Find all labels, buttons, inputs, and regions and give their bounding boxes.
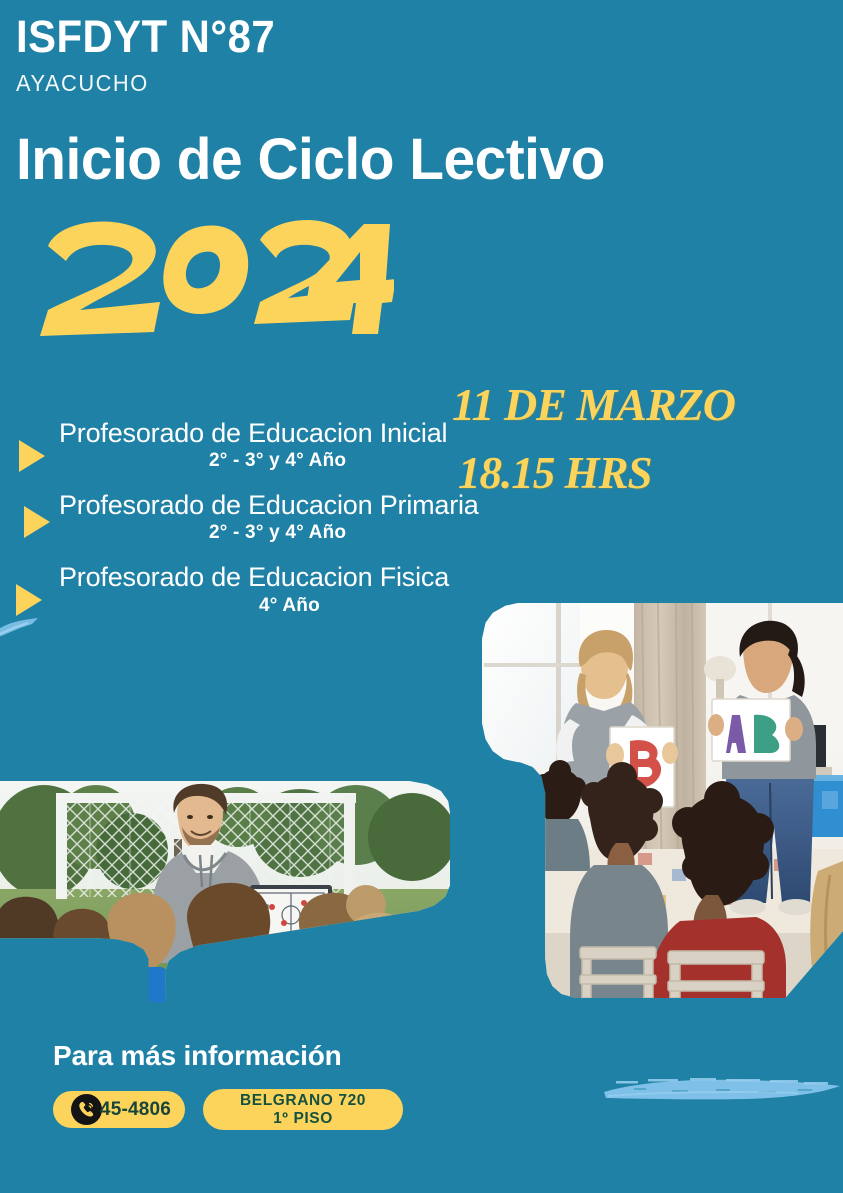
address-pill[interactable]: BELGRANO 720 1º PISO	[203, 1089, 403, 1130]
phone-pill[interactable]: 45-4806	[53, 1091, 185, 1128]
course-years: 4° Año	[259, 595, 494, 617]
course-name: Profesorado de Educacion Primaria	[59, 490, 494, 520]
event-time: 18.15 HRS	[458, 451, 842, 497]
contact-section: Para más información 45-4806 BELGRANO 72…	[53, 1040, 813, 1130]
triangle-bullet-icon	[24, 506, 50, 538]
triangle-bullet-icon	[19, 440, 45, 472]
phone-number: 45-4806	[98, 1100, 171, 1119]
course-name: Profesorado de Educacion Inicial	[59, 418, 494, 448]
institution-name: ISFDYT N°87	[16, 14, 760, 59]
year-graphic: 2024	[34, 218, 394, 338]
course-years: 2° - 3° y 4° Año	[209, 522, 494, 544]
course-item: Profesorado de Educacion Inicial 2° - 3°…	[14, 418, 494, 472]
event-date: 11 DE MARZO	[452, 382, 842, 429]
brush-stroke-left	[0, 616, 40, 642]
course-item: Profesorado de Educacion Fisica 4° Año	[14, 562, 494, 616]
course-item: Profesorado de Educacion Primaria 2° - 3…	[14, 490, 494, 544]
contact-pills: 45-4806 BELGRANO 720 1º PISO	[53, 1089, 813, 1130]
poster-root: ISFDYT N°87 AYACUCHO Inicio de Ciclo Lec…	[0, 0, 843, 1193]
address-street: BELGRANO 720	[240, 1092, 366, 1109]
course-name: Profesorado de Educacion Fisica	[59, 562, 494, 592]
triangle-bullet-icon	[16, 584, 42, 616]
photo-sports	[0, 781, 450, 1003]
photo-classroom	[482, 603, 843, 998]
course-list: Profesorado de Educacion Inicial 2° - 3°…	[14, 418, 494, 635]
contact-heading: Para más información	[53, 1040, 813, 1072]
event-datetime: 11 DE MARZO 18.15 HRS	[452, 382, 842, 497]
address-floor: 1º PISO	[273, 1110, 333, 1127]
poster-header: ISFDYT N°87 AYACUCHO	[16, 14, 816, 97]
institution-city: AYACUCHO	[16, 70, 776, 97]
page-title: Inicio de Ciclo Lectivo	[16, 131, 605, 189]
